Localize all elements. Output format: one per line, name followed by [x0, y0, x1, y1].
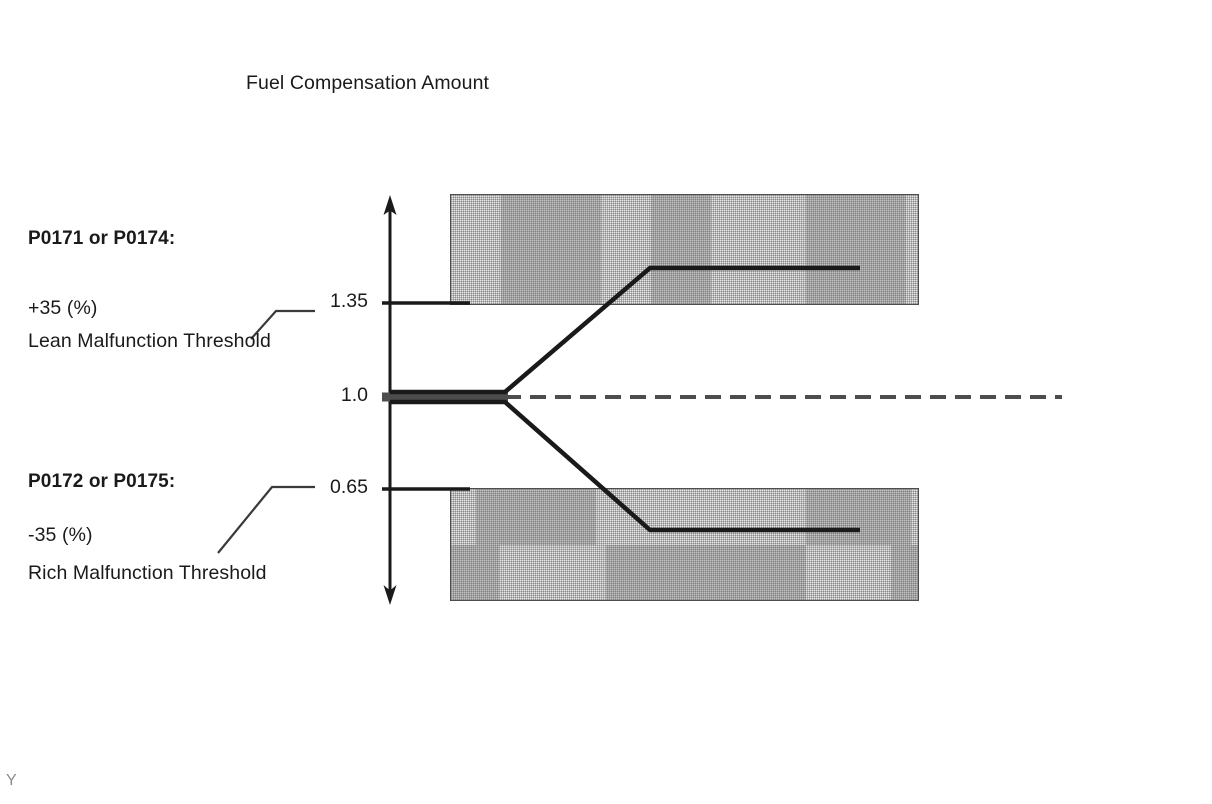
- axis-tick-label-1-0: 1.0: [268, 384, 368, 407]
- lean-dtc-codes: P0171 or P0174:: [28, 228, 175, 250]
- lean-compensation-trace: [390, 268, 860, 392]
- axis-tick-label-1-35: 1.35: [268, 290, 368, 313]
- rich-compensation-trace: [390, 402, 860, 530]
- lean-threshold-label: Lean Malfunction Threshold: [28, 330, 271, 353]
- rich-percent-value: -35 (%): [28, 524, 93, 547]
- diagram-canvas: Fuel Compensation Amount P0171 or P0174:…: [0, 0, 1212, 804]
- lean-percent-value: +35 (%): [28, 297, 98, 320]
- axis-tick-label-0-65: 0.65: [268, 476, 368, 499]
- diagram-vector-layer: [0, 0, 1212, 804]
- rich-threshold-label: Rich Malfunction Threshold: [28, 562, 267, 585]
- corner-mark: Y: [6, 772, 17, 790]
- chart-title: Fuel Compensation Amount: [246, 72, 489, 95]
- rich-dtc-codes: P0172 or P0175:: [28, 471, 175, 493]
